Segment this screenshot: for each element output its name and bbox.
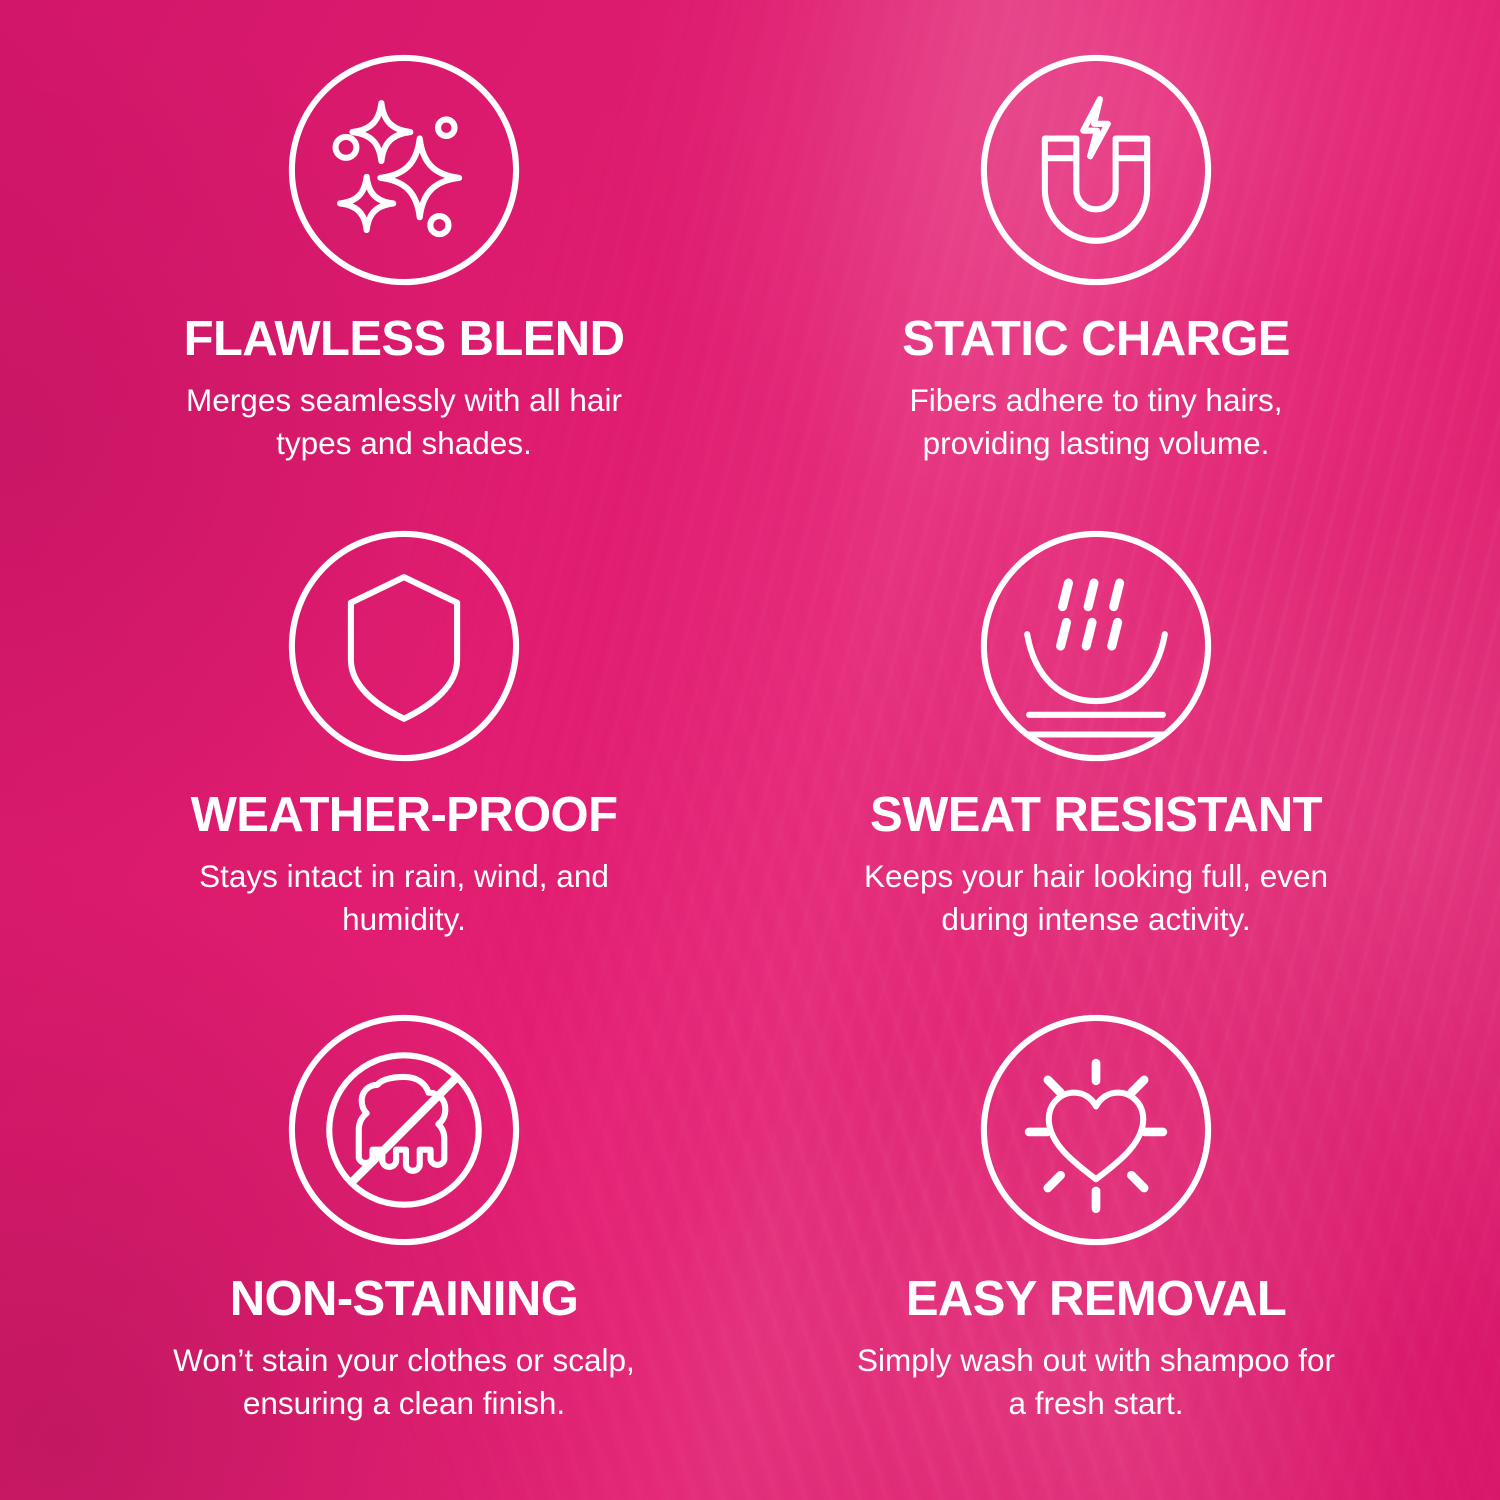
feature-title: EASY REMOVAL: [906, 1274, 1286, 1325]
feature-card-easy-removal: EASY REMOVAL Simply wash out with shampo…: [750, 992, 1442, 1470]
feature-description: Stays intact in rain, wind, and humidity…: [164, 855, 644, 941]
feature-card-sweat-resistant: SWEAT RESISTANT Keeps your hair looking …: [750, 514, 1442, 992]
feature-card-weather-proof: WEATHER-PROOF Stays intact in rain, wind…: [58, 514, 750, 992]
shining-heart-icon: [978, 1012, 1214, 1248]
no-stain-icon: [286, 1012, 522, 1248]
sparkles-icon: [286, 52, 522, 288]
feature-title: FLAWLESS BLEND: [184, 314, 625, 365]
feature-title: SWEAT RESISTANT: [870, 790, 1322, 841]
magnet-icon: [978, 52, 1214, 288]
feature-card-non-staining: NON-STAINING Won’t stain your clothes or…: [58, 992, 750, 1470]
water-repellent-icon: [978, 528, 1214, 764]
feature-title: NON-STAINING: [230, 1274, 578, 1325]
feature-description: Merges seamlessly with all hair types an…: [164, 379, 644, 465]
feature-description: Keeps your hair looking full, even durin…: [856, 855, 1336, 941]
feature-description: Won’t stain your clothes or scalp, ensur…: [164, 1339, 644, 1425]
feature-grid: FLAWLESS BLEND Merges seamlessly with al…: [0, 0, 1500, 1500]
feature-description: Simply wash out with shampoo for a fresh…: [856, 1339, 1336, 1425]
feature-title: STATIC CHARGE: [902, 314, 1290, 365]
shield-icon: [286, 528, 522, 764]
feature-card-static-charge: STATIC CHARGE Fibers adhere to tiny hair…: [750, 36, 1442, 514]
feature-card-flawless-blend: FLAWLESS BLEND Merges seamlessly with al…: [58, 36, 750, 514]
feature-description: Fibers adhere to tiny hairs, providing l…: [856, 379, 1336, 465]
feature-title: WEATHER-PROOF: [191, 790, 618, 841]
